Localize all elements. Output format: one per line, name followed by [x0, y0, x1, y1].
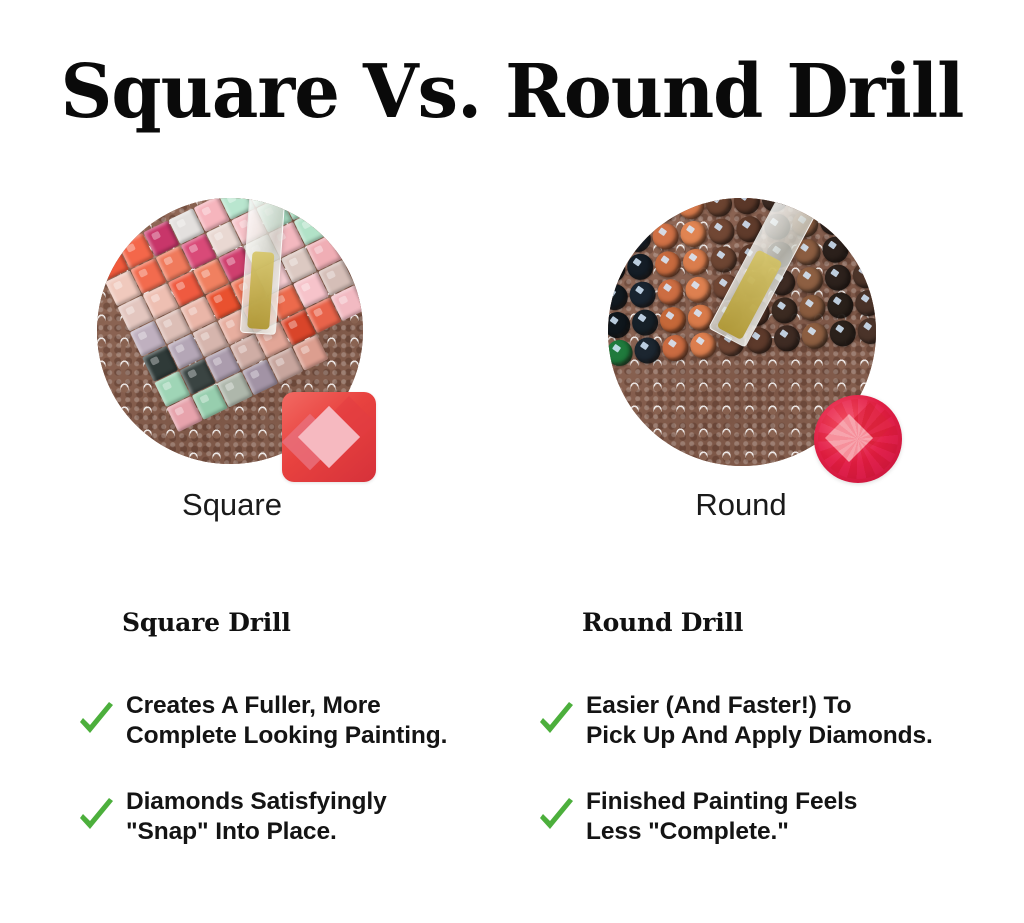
gem-facet-ring [818, 399, 898, 479]
check-icon [536, 701, 576, 741]
round-bead [608, 199, 622, 227]
round-bead [659, 306, 687, 334]
round-bead [654, 250, 682, 278]
round-bead [829, 319, 857, 347]
round-bead [608, 255, 626, 283]
infographic-page: Square Vs. Round Drill Square Roun [0, 0, 1024, 923]
square-photo-caption: Square [97, 487, 367, 523]
round-bead [608, 339, 634, 367]
round-drill-bullet-list: Easier (And Faster!) To Pick Up And Appl… [582, 691, 1002, 847]
round-bead [705, 198, 733, 218]
round-bead [773, 324, 801, 352]
page-title: Square Vs. Round Drill [15, 50, 1008, 134]
check-icon [536, 797, 576, 837]
round-bead [608, 311, 631, 339]
round-bead [677, 198, 705, 220]
round-bead [631, 309, 659, 337]
list-item-label: Finished Painting Feels Less "Complete." [586, 787, 857, 847]
round-photo-caption: Round [606, 487, 876, 523]
round-bead [824, 264, 852, 292]
check-icon [76, 797, 116, 837]
square-drill-photo-group [97, 198, 400, 488]
list-item: Creates A Fuller, More Complete Looking … [122, 691, 522, 751]
round-bead [608, 227, 624, 255]
round-bead [679, 220, 707, 248]
round-bead [857, 317, 876, 345]
round-bead [854, 289, 876, 317]
round-bead [629, 281, 657, 309]
square-drill-column: Square Drill Creates A Fuller, More Comp… [122, 608, 522, 883]
round-bead [682, 248, 710, 276]
round-gem-icon [814, 395, 902, 483]
square-drill-bullet-list: Creates A Fuller, More Complete Looking … [122, 691, 522, 847]
round-drill-heading: Round Drill [582, 608, 1002, 637]
list-item: Finished Painting Feels Less "Complete." [582, 787, 1002, 847]
round-bead [801, 322, 829, 350]
square-drill-heading: Square Drill [122, 608, 522, 637]
round-drill-photo-group [608, 198, 898, 496]
round-bead [852, 261, 876, 289]
round-bead [875, 203, 876, 231]
round-bead [770, 296, 798, 324]
round-drill-column: Round Drill Easier (And Faster!) To Pick… [582, 608, 1002, 883]
square-gem-icon [282, 392, 376, 482]
round-bead [819, 208, 847, 236]
round-bead [796, 266, 824, 294]
round-bead [624, 225, 652, 253]
round-bead [821, 236, 849, 264]
list-item-label: Creates A Fuller, More Complete Looking … [126, 691, 447, 751]
round-bead [710, 245, 738, 273]
round-bead [649, 198, 677, 223]
round-bead [626, 253, 654, 281]
round-bead [661, 334, 689, 362]
round-bead [621, 198, 649, 225]
round-bead [733, 198, 761, 215]
round-bead [816, 198, 844, 208]
round-bead [633, 336, 661, 364]
round-bead [608, 283, 629, 311]
round-bead [844, 198, 872, 206]
round-bead [849, 233, 876, 261]
round-bead [707, 218, 735, 246]
round-bead [872, 198, 876, 203]
round-bead [798, 294, 826, 322]
round-bead [652, 222, 680, 250]
list-item-label: Diamonds Satisfyingly "Snap" Into Place. [126, 787, 387, 847]
round-bead [656, 278, 684, 306]
round-bead [847, 205, 875, 233]
list-item: Easier (And Faster!) To Pick Up And Appl… [582, 691, 1002, 751]
round-bead [684, 276, 712, 304]
round-bead [689, 332, 717, 360]
list-item-label: Easier (And Faster!) To Pick Up And Appl… [586, 691, 933, 751]
round-bead [826, 291, 854, 319]
check-icon [76, 701, 116, 741]
list-item: Diamonds Satisfyingly "Snap" Into Place. [122, 787, 522, 847]
